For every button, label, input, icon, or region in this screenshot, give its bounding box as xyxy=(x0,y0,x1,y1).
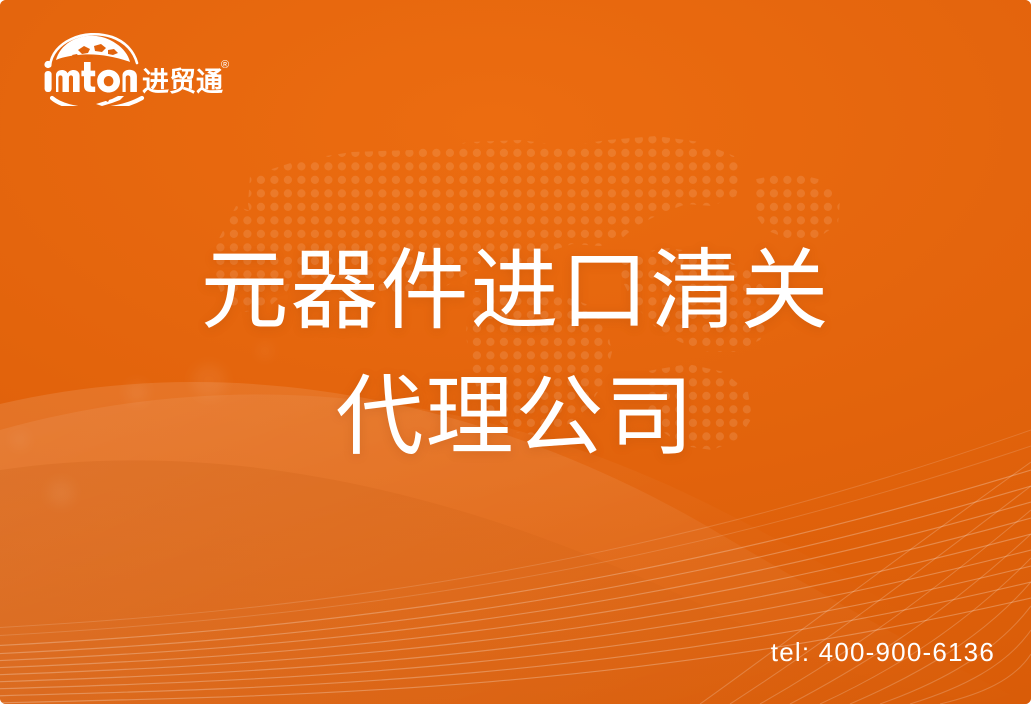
brand-logo[interactable]: 进贸通 ® xyxy=(38,26,238,106)
globe-dome-icon xyxy=(50,34,137,66)
brand-logo-svg: 进贸通 ® xyxy=(38,26,238,106)
bokeh-circle xyxy=(48,480,74,506)
logo-wordmark xyxy=(44,61,136,93)
page-title: 元器件进口清关 代理公司 xyxy=(0,228,1031,480)
contact-phone[interactable]: tel: 400-900-6136 xyxy=(771,637,995,668)
headline-line-1: 元器件进口清关 xyxy=(0,228,1031,354)
airplane-swoosh-icon xyxy=(52,96,142,106)
trademark-symbol: ® xyxy=(221,59,229,71)
promotional-banner: 进贸通 ® 元器件进口清关 代理公司 tel: 400-900-6136 xyxy=(0,0,1031,704)
headline-line-2: 代理公司 xyxy=(0,354,1031,480)
logo-chinese-name: 进贸通 xyxy=(142,67,223,98)
